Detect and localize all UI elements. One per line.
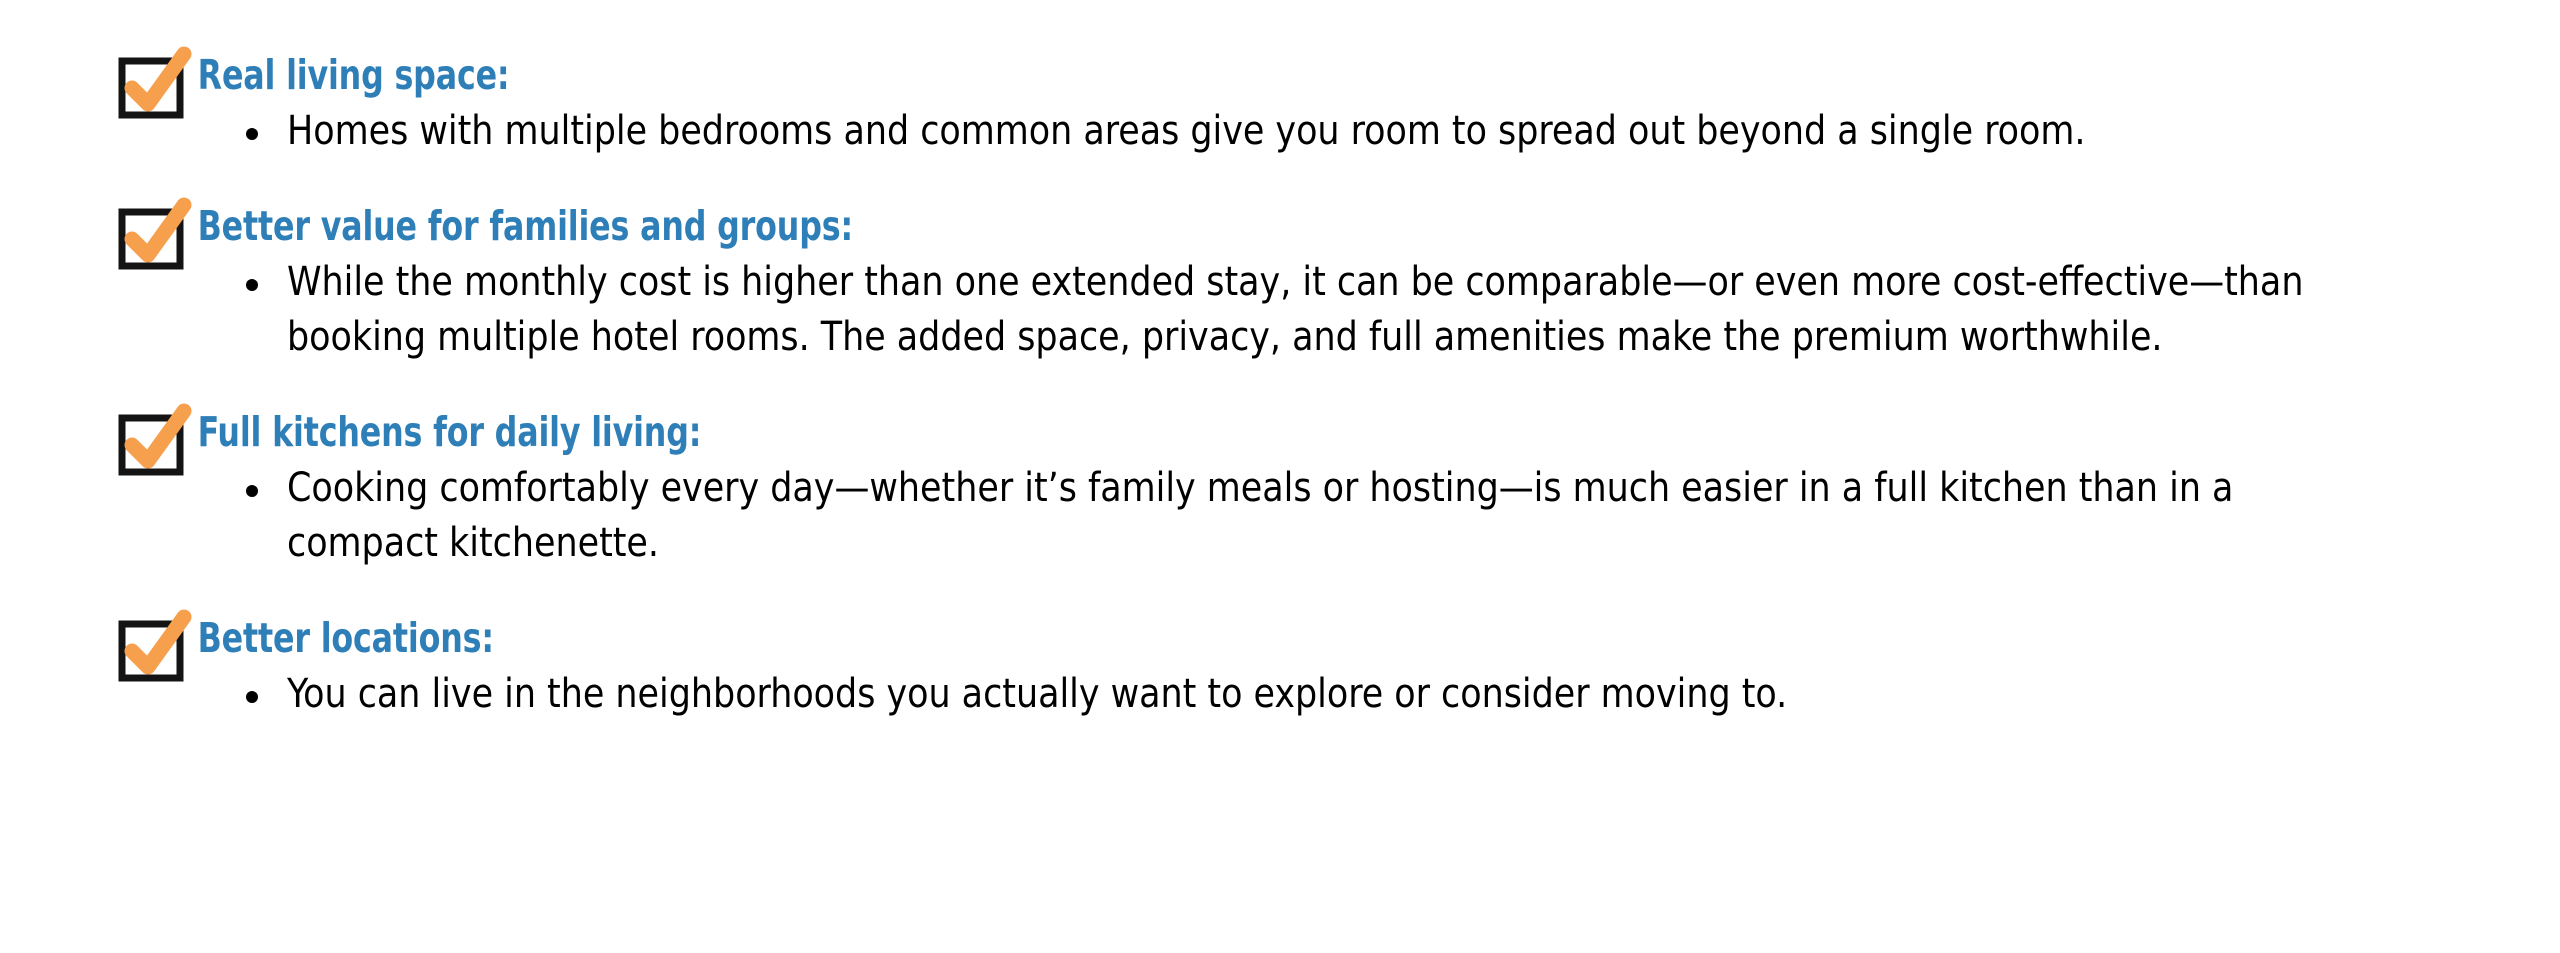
benefit-block: Full kitchens for daily living: Cooking … [0,409,2560,571]
list-item: Homes with multiple bedrooms and common … [122,104,2392,159]
benefit-block: Real living space: Homes with multiple b… [0,52,2560,159]
bullet-dot-icon [246,691,258,703]
bullet-dot-icon [246,485,258,497]
benefit-bullet-list: Homes with multiple bedrooms and common … [122,104,2560,159]
bullet-text: You can live in the neighborhoods you ac… [287,667,2329,722]
benefit-bullet-list: You can live in the neighborhoods you ac… [122,667,2560,722]
bullet-text: Homes with multiple bedrooms and common … [287,104,2329,159]
benefit-bullet-list: Cooking comfortably every day—whether it… [122,461,2560,571]
bullet-dot-icon [246,279,258,291]
bullet-text: While the monthly cost is higher than on… [287,255,2329,365]
list-item: While the monthly cost is higher than on… [122,255,2392,365]
bullet-dot-icon [246,128,258,140]
benefit-block: Better locations: You can live in the ne… [0,615,2560,722]
list-item: Cooking comfortably every day—whether it… [122,461,2392,571]
benefit-heading: Real living space: [122,52,2219,98]
benefit-bullet-list: While the monthly cost is higher than on… [122,255,2560,365]
benefit-heading: Better locations: [122,615,2219,661]
bullet-text: Cooking comfortably every day—whether it… [287,461,2329,571]
benefit-heading: Better value for families and groups: [122,203,2219,249]
benefit-block: Better value for families and groups: Wh… [0,203,2560,365]
benefit-heading: Full kitchens for daily living: [122,409,2219,455]
benefits-checklist: Real living space: Homes with multiple b… [0,0,2560,953]
list-item: You can live in the neighborhoods you ac… [122,667,2392,722]
